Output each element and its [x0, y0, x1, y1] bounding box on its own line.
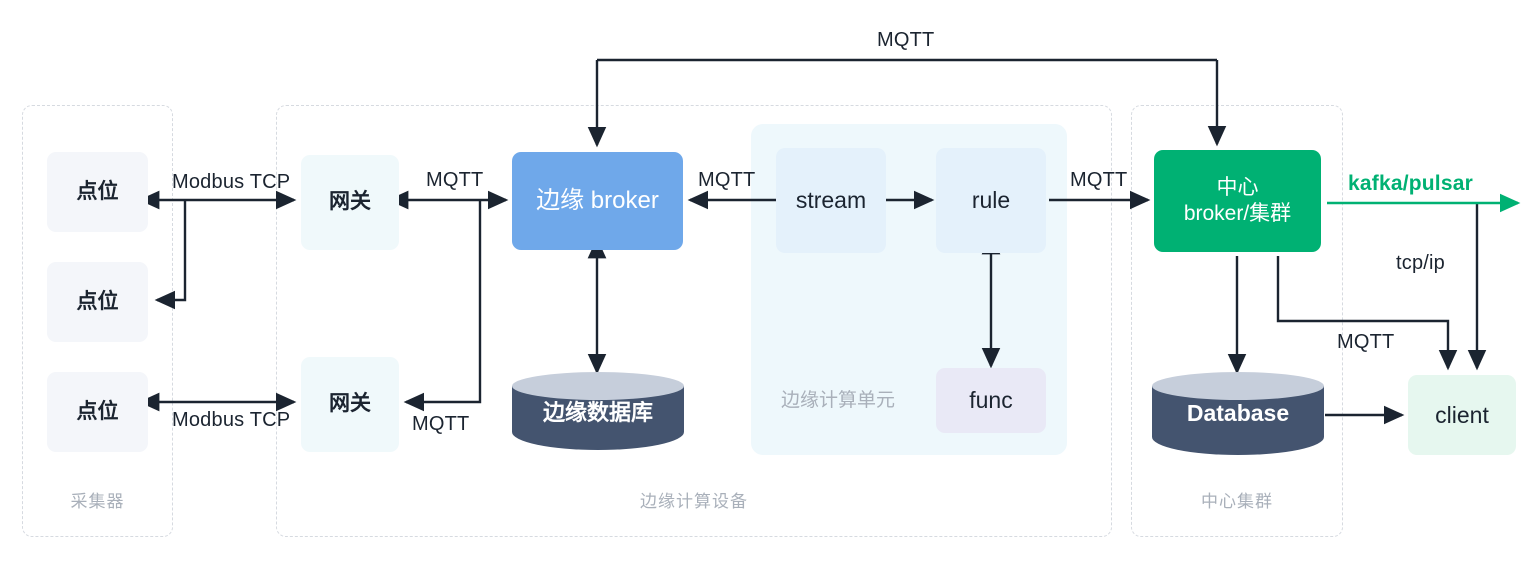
node-center-broker[interactable]: 中心 broker/集群 — [1154, 150, 1321, 252]
center-broker-line-2: broker/集群 — [1184, 201, 1291, 227]
node-edge-database[interactable]: 边缘数据库 — [512, 372, 684, 450]
label-modbus-bottom: Modbus TCP — [172, 409, 290, 432]
label-modbus-top: Modbus TCP — [172, 171, 290, 194]
node-edge-broker[interactable]: 边缘 broker — [512, 152, 683, 250]
label-tcp-ip: tcp/ip — [1396, 252, 1445, 275]
node-stream[interactable]: stream — [776, 148, 886, 253]
zone-center-cluster-label: 中心集群 — [1131, 487, 1343, 512]
label-center-client-mqtt: MQTT — [1337, 331, 1394, 354]
node-point-2[interactable]: 点位 — [47, 262, 148, 342]
node-gateway-1[interactable]: 网关 — [301, 155, 399, 250]
label-top-mqtt: MQTT — [877, 29, 934, 52]
node-client[interactable]: client — [1408, 375, 1516, 455]
center-broker-line-1: 中心 — [1217, 175, 1259, 201]
node-rule[interactable]: rule — [936, 148, 1046, 253]
label-stream-out-mqtt: MQTT — [698, 169, 755, 192]
diagram-canvas: 采集器 边缘计算设备 中心集群 边缘计算单元 — [0, 0, 1536, 568]
node-gateway-2[interactable]: 网关 — [301, 357, 399, 452]
node-point-1[interactable]: 点位 — [47, 152, 148, 232]
database-label: Database — [1152, 372, 1324, 455]
label-rule-out-mqtt: MQTT — [1070, 169, 1127, 192]
label-gateway2-mqtt: MQTT — [412, 413, 469, 436]
label-gateway-edge-mqtt: MQTT — [426, 169, 483, 192]
zone-collector-label: 采集器 — [22, 487, 173, 512]
edge-database-label: 边缘数据库 — [512, 372, 684, 450]
node-point-3[interactable]: 点位 — [47, 372, 148, 452]
zone-edge-device-label: 边缘计算设备 — [276, 487, 1112, 512]
label-kafka-pulsar: kafka/pulsar — [1348, 172, 1473, 196]
edge-compute-unit-label: 边缘计算单元 — [781, 385, 895, 412]
node-func[interactable]: func — [936, 368, 1046, 433]
node-database[interactable]: Database — [1152, 372, 1324, 455]
